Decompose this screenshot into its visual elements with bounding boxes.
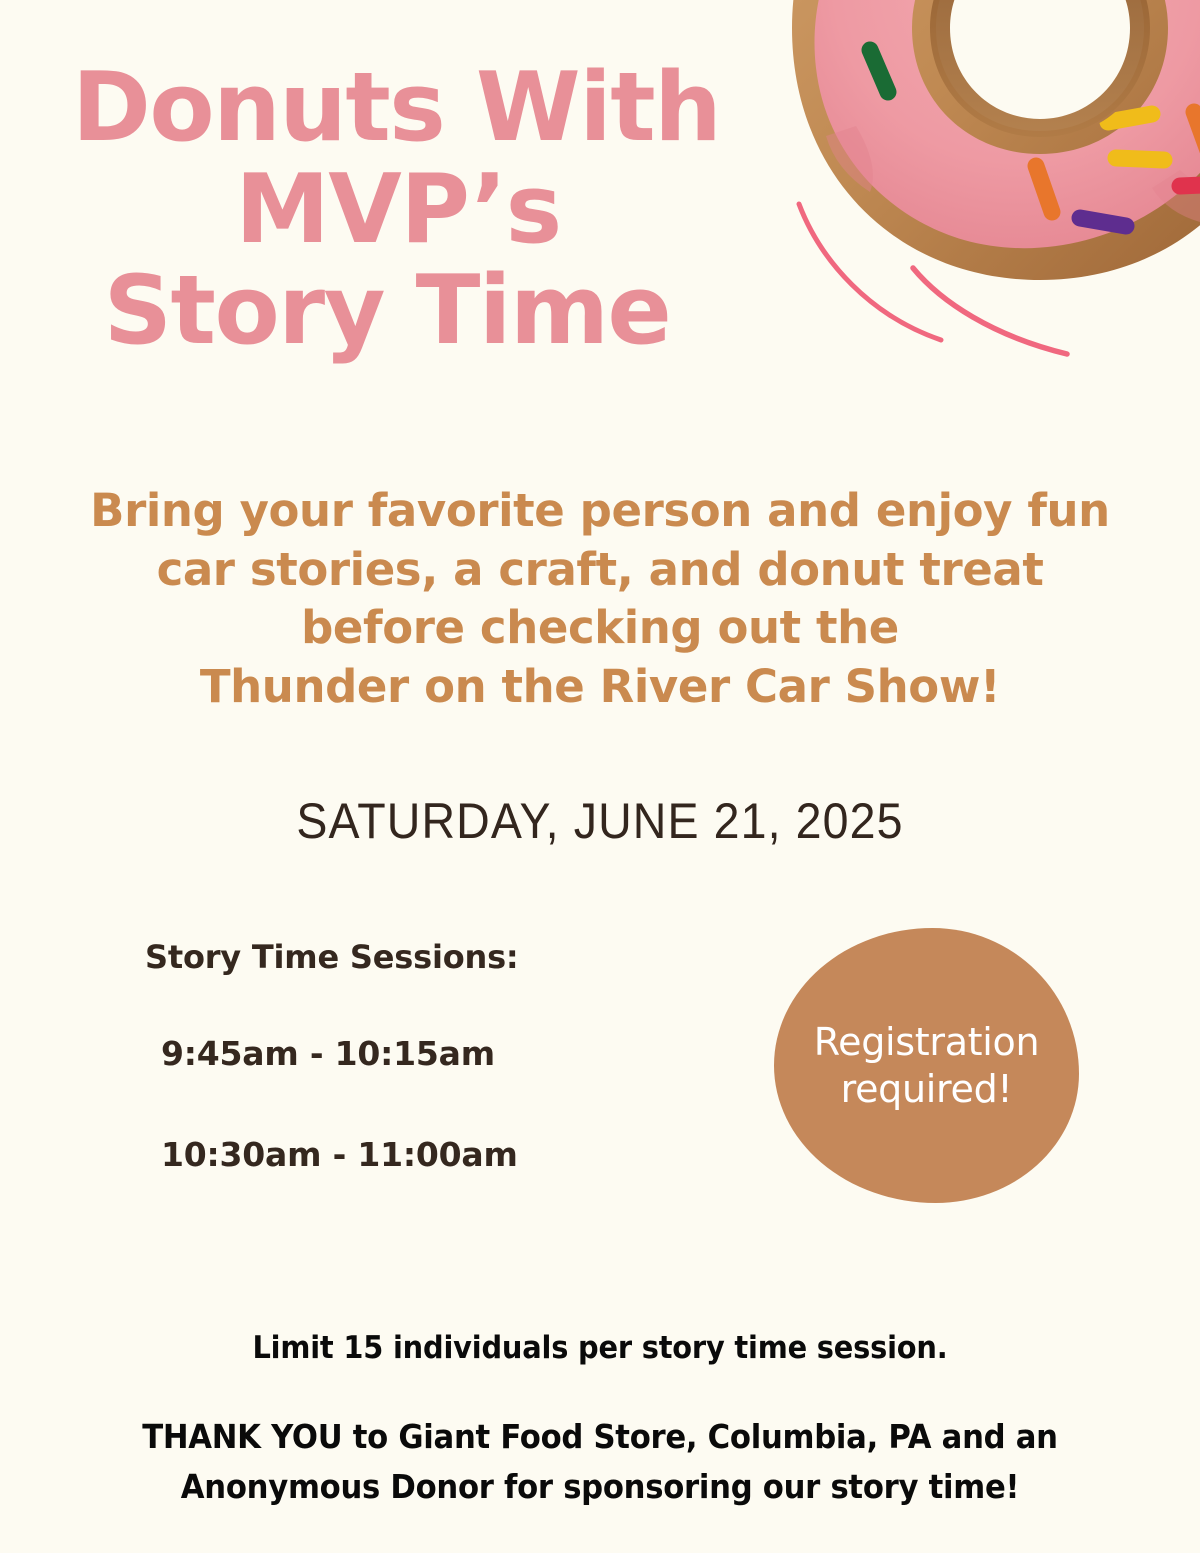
story-time-sessions: Story Time Sessions: 9:45am - 10:15am 10… xyxy=(145,938,705,1236)
motion-arc-lines xyxy=(785,190,1115,360)
title-line-1: Donuts With xyxy=(68,58,728,160)
page-title: Donuts With MVP’s Story Time xyxy=(68,58,728,363)
event-description: Bring your favorite person and enjoy fun… xyxy=(40,482,1160,716)
description-line-4: Thunder on the River Car Show! xyxy=(40,658,1160,717)
session-time-1: 9:45am - 10:15am xyxy=(161,1034,705,1073)
donut-illustration xyxy=(760,0,1200,370)
title-line-2: MVP’s xyxy=(68,160,728,262)
sponsor-thanks-line-1: THANK YOU to Giant Food Store, Columbia,… xyxy=(42,1412,1158,1462)
sponsor-thanks: THANK YOU to Giant Food Store, Columbia,… xyxy=(42,1412,1158,1511)
registration-line-2: required! xyxy=(841,1067,1013,1111)
description-line-1: Bring your favorite person and enjoy fun xyxy=(40,482,1160,541)
registration-badge[interactable]: Registration required! xyxy=(774,928,1079,1203)
description-line-3: before checking out the xyxy=(40,599,1160,658)
event-date: SATURDAY, JUNE 21, 2025 xyxy=(42,792,1158,850)
title-line-3: Story Time xyxy=(68,261,728,363)
description-line-2: car stories, a craft, and donut treat xyxy=(40,541,1160,600)
session-time-2: 10:30am - 11:00am xyxy=(161,1135,705,1174)
limit-note: Limit 15 individuals per story time sess… xyxy=(42,1330,1158,1366)
registration-line-1: Registration xyxy=(814,1020,1040,1064)
sponsor-thanks-line-2: Anonymous Donor for sponsoring our story… xyxy=(42,1462,1158,1512)
flyer-canvas: Donuts With MVP’s Story Time Bring your … xyxy=(0,0,1200,1553)
sessions-heading: Story Time Sessions: xyxy=(145,938,705,976)
registration-badge-text: Registration required! xyxy=(782,1019,1072,1112)
